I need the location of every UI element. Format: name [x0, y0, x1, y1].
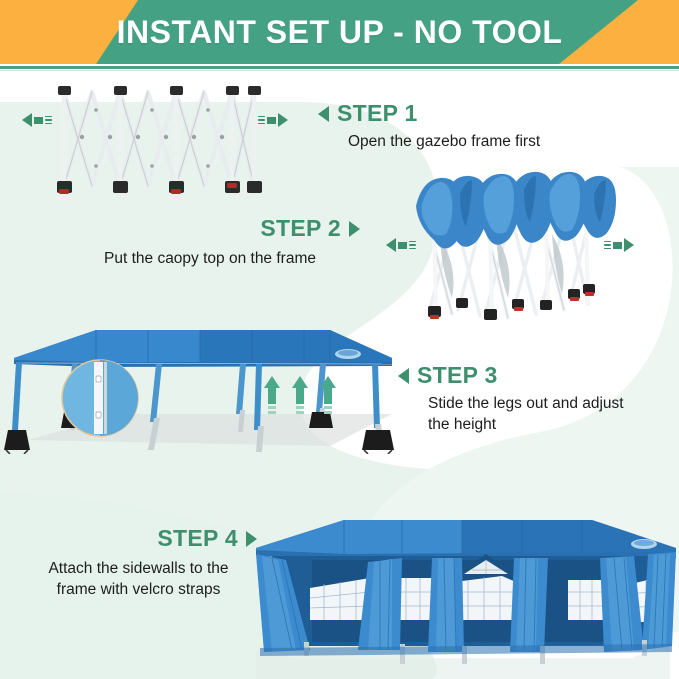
up-arrows-adjust-height	[264, 376, 336, 414]
step-3-description-line1: Stide the legs out and adjust	[428, 393, 624, 414]
arrow-tail	[267, 117, 276, 124]
step-2-label: STEP 2	[260, 215, 341, 242]
step-4-description: Attach the sidewalls to the frame with v…	[16, 558, 261, 601]
arrow-left-icon	[386, 238, 396, 252]
header-banner: INSTANT SET UP - NO TOOL	[0, 0, 679, 64]
step-4-description-line1: Attach the sidewalls to the	[16, 558, 261, 579]
motion-arrow-left-step1	[22, 113, 52, 127]
illustration-canopy-on-folded-frame	[400, 168, 624, 320]
step-3-text-block: STEP 3 Stide the legs out and adjust the…	[398, 362, 624, 436]
step-4-label: STEP 4	[157, 525, 238, 552]
step-4-heading: STEP 4	[16, 525, 261, 552]
step-1-description: Open the gazebo frame first	[348, 131, 540, 152]
infographic-page: INSTANT SET UP - NO TOOL	[0, 0, 679, 679]
step-1-label: STEP 1	[337, 100, 418, 127]
page-title: INSTANT SET UP - NO TOOL	[0, 0, 679, 64]
motion-lines-icon	[258, 116, 265, 125]
motion-arrow-right-step2	[604, 238, 634, 252]
motion-lines-icon	[45, 116, 52, 125]
header-divider-rule-thin	[0, 70, 679, 71]
canopy-brand-logo	[335, 349, 361, 359]
step-2-text-block: STEP 2 Put the caopy top on the frame	[60, 215, 360, 269]
arrow-tail	[613, 242, 622, 249]
step-3-description: Stide the legs out and adjust the height	[428, 393, 624, 436]
step-2-description: Put the caopy top on the frame	[60, 248, 360, 269]
triangle-right-icon	[349, 221, 360, 237]
step-1-heading: STEP 1	[318, 100, 540, 127]
step-3-heading: STEP 3	[398, 362, 624, 389]
arrow-right-icon	[624, 238, 634, 252]
step-2-heading: STEP 2	[60, 215, 360, 242]
canopy-brand-logo	[631, 539, 657, 549]
step-4-text-block: STEP 4 Attach the sidewalls to the frame…	[16, 525, 261, 601]
motion-lines-icon	[604, 241, 611, 250]
illustration-gazebo-with-sidewalls	[252, 500, 679, 679]
arrow-tail	[398, 242, 407, 249]
step-4-description-line2: frame with velcro straps	[16, 579, 261, 600]
step-3-label: STEP 3	[417, 362, 498, 389]
triangle-left-icon	[318, 106, 329, 122]
leg-detail-magnifier	[62, 360, 138, 436]
header-divider-rule	[0, 66, 679, 69]
step-1-text-block: STEP 1 Open the gazebo frame first	[318, 100, 540, 152]
step-3-description-line2: the height	[428, 414, 624, 435]
arrow-tail	[34, 117, 43, 124]
illustration-expanded-gazebo-no-walls	[0, 318, 400, 454]
arrow-right-icon	[278, 113, 288, 127]
arrow-left-icon	[22, 113, 32, 127]
motion-arrow-right-step1	[258, 113, 288, 127]
motion-lines-icon	[409, 241, 416, 250]
illustration-folded-white-frame	[52, 82, 272, 200]
motion-arrow-left-step2	[386, 238, 416, 252]
